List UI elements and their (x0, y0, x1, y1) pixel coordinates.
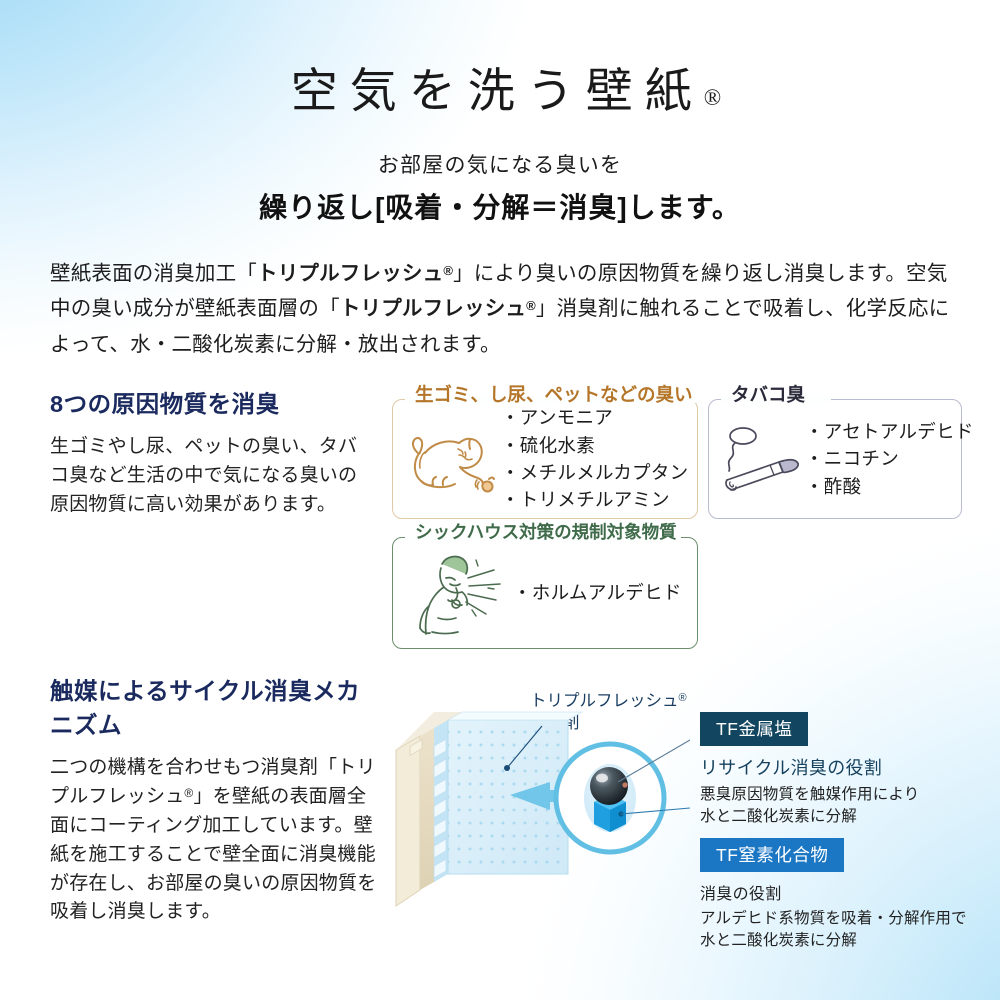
cat-icon (393, 419, 501, 499)
mechanism-body-part-1: 二つの機構を合わせもつ消臭剤「 (50, 757, 337, 778)
odor-box-sickhouse-items: ・ホルムアルデヒド (513, 579, 682, 606)
list-item: ・アセトアルデヒド (805, 418, 974, 445)
callout-tf-metal-salt-desc: 悪臭原因物質を触媒作用により 水と二酸化炭素に分解 (700, 784, 1000, 829)
list-item: ・アンモニア (501, 404, 688, 431)
odor-box-tobacco-items: ・アセトアルデヒド ・ニコチン ・酢酸 (805, 418, 974, 500)
list-item: ・硫化水素 (501, 432, 688, 459)
page-title-text: 空気を洗う壁紙 (291, 66, 704, 118)
callout-desc-line-1: 悪臭原因物質を触媒作用により (700, 784, 1000, 806)
wallpaper-cross-section-diagram (390, 690, 690, 950)
registered-mark-icon: ® (443, 263, 453, 278)
callout-tf-nitrogen-compound-desc: アルデヒド系物質を吸着・分解作用で 水と二酸化炭素に分解 (700, 908, 1000, 953)
list-item: ・トリメチルアミン (501, 486, 688, 513)
cigarette-icon (709, 422, 805, 496)
badge-tf-metal-salt: TF金属塩 (700, 712, 808, 746)
odor-box-sickhouse: シックハウス対策の規制対象物質 (392, 537, 698, 649)
lead-part-1: 壁紙表面の消臭加工「 (50, 262, 257, 285)
callout-tf-metal-salt: TF金属塩 リサイクル消臭の役割 悪臭原因物質を触媒作用により 水と二酸化炭素に… (700, 712, 1000, 829)
odor-section-text: 8つの原因物質を消臭 生ゴミやし尿、ペットの臭い、タバコ臭など生活の中で気になる… (50, 385, 370, 520)
mechanism-section-heading: 触媒によるサイクル消臭メカニズム (50, 672, 380, 740)
lead-brand-2: トリプルフレッシュ (340, 297, 526, 320)
mechanism-section-text: 触媒によるサイクル消臭メカニズム 二つの機構を合わせもつ消臭剤「トリプルフレッシ… (50, 672, 380, 927)
odor-causes-section: 8つの原因物質を消臭 生ゴミやし尿、ペットの臭い、タバコ臭など生活の中で気になる… (0, 385, 1000, 660)
subtitle-line-2: 繰り返し[吸着・分解＝消臭]します。 (0, 186, 1000, 226)
registered-mark-icon: ® (704, 85, 721, 110)
callout-tf-metal-salt-title: リサイクル消臭の役割 (700, 754, 1000, 780)
page-title: 空気を洗う壁紙® (0, 0, 1000, 121)
list-item: ・ホルムアルデヒド (513, 579, 682, 606)
odor-section-heading: 8つの原因物質を消臭 (50, 385, 370, 419)
odor-box-tobacco: タバコ臭 (708, 399, 962, 519)
callout-tf-nitrogen-compound-title: 消臭の役割 (700, 880, 1000, 904)
list-item: ・メチルメルカプタン (501, 459, 688, 486)
coughing-person-icon (393, 548, 513, 638)
list-item: ・酢酸 (805, 473, 974, 500)
callout-tf-nitrogen-compound: TF窒素化合物 消臭の役割 アルデヒド系物質を吸着・分解作用で 水と二酸化炭素に… (700, 838, 1000, 953)
registered-mark-icon: ® (526, 298, 536, 313)
odor-section-body: 生ゴミやし尿、ペットの臭い、タバコ臭など生活の中で気になる臭いの原因物質に高い効… (50, 433, 370, 520)
mechanism-section-body: 二つの機構を合わせもつ消臭剤「トリプルフレッシュ®」を壁紙の表面層全面にコーティ… (50, 754, 380, 927)
lead-paragraph: 壁紙表面の消臭加工「トリプルフレッシュ®」により臭いの原因物質を繰り返し消臭しま… (50, 256, 952, 362)
page-root: 空気を洗う壁紙® お部屋の気になる臭いを 繰り返し[吸着・分解＝消臭]します。 … (0, 0, 1000, 1000)
lead-brand-1: トリプルフレッシュ (257, 262, 443, 285)
odor-box-kitchen: 生ゴミ、し尿、ペットなどの臭い (392, 399, 698, 519)
callout-desc-line-2: 水と二酸化炭素に分解 (700, 930, 1000, 952)
subtitle-line-1: お部屋の気になる臭いを (0, 149, 1000, 179)
callout-desc-line-1: アルデヒド系物質を吸着・分解作用で (700, 908, 1000, 930)
list-item: ・ニコチン (805, 445, 974, 472)
odor-box-kitchen-items: ・アンモニア ・硫化水素 ・メチルメルカプタン ・トリメチルアミン (501, 404, 688, 514)
mechanism-section: 触媒によるサイクル消臭メカニズム 二つの機構を合わせもつ消臭剤「トリプルフレッシ… (0, 672, 1000, 992)
callout-desc-line-2: 水と二酸化炭素に分解 (700, 806, 1000, 828)
badge-tf-nitrogen-compound: TF窒素化合物 (700, 838, 844, 872)
